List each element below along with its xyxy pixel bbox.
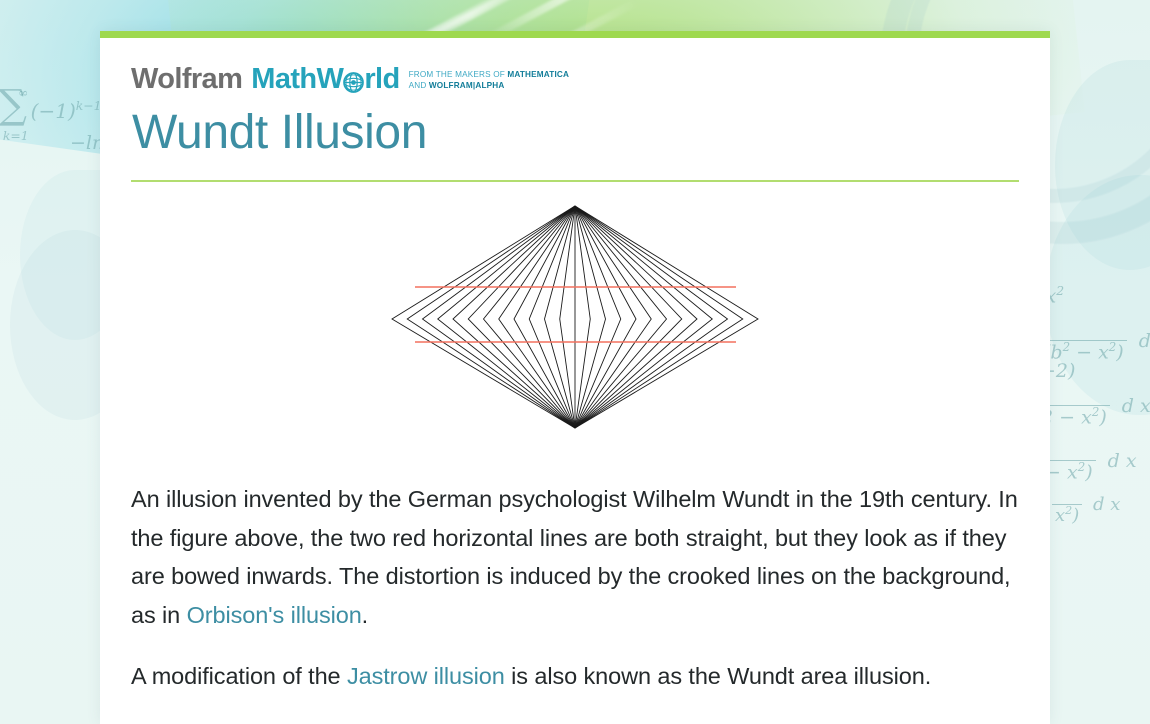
- paragraph-1: An illusion invented by the German psych…: [131, 480, 1019, 635]
- title-divider: [131, 180, 1019, 182]
- logo-w-text: W: [317, 65, 344, 94]
- fan-line: [575, 206, 743, 428]
- paragraph-2: A modification of the Jastrow illusion i…: [131, 657, 1019, 696]
- tagline-line-1: FROM THE MAKERS OF MATHEMATICA: [409, 70, 570, 79]
- wolfram-globe-icon: [343, 70, 364, 91]
- background-formula-right-4: 2 − x2) d x: [1038, 385, 1150, 428]
- fan-line: [499, 206, 575, 428]
- background-formula-right-2: (b2 − x2) d x: [1040, 320, 1150, 363]
- red-straight-line-group: [415, 287, 736, 342]
- fan-line: [407, 206, 575, 428]
- paragraph-2-text-b: is also known as the Wundt area illusion…: [505, 663, 931, 689]
- fan-line: [560, 206, 575, 428]
- paragraph-1-text-b: .: [362, 602, 368, 628]
- content-card: Wolfram MathW rld FROM THE MAKERS OF MAT…: [100, 31, 1050, 724]
- paragraph-2-text-a: A modification of the: [131, 663, 347, 689]
- logo-mathworld-text: MathW rld: [251, 65, 399, 94]
- logo-tagline: FROM THE MAKERS OF MATHEMATICA AND WOLFR…: [409, 70, 570, 94]
- fan-line: [438, 206, 575, 428]
- tagline-line-2: AND WOLFRAM|ALPHA: [409, 81, 505, 90]
- fan-line: [575, 206, 712, 428]
- article-body: An illusion invented by the German psych…: [131, 480, 1019, 696]
- page-title: Wundt Illusion: [132, 108, 1019, 159]
- fan-line-group: [392, 206, 758, 428]
- logo-wolfram-text: Wolfram: [131, 65, 242, 94]
- wundt-illusion-diagram: [375, 194, 775, 442]
- link-jastrow-illusion[interactable]: Jastrow illusion: [347, 663, 505, 689]
- mathworld-logo[interactable]: Wolfram MathW rld FROM THE MAKERS OF MAT…: [131, 64, 1019, 94]
- logo-math-text: Math: [251, 65, 316, 94]
- fan-line: [575, 206, 651, 428]
- background-formula-right-5: − x2) d x: [1042, 440, 1137, 483]
- figure-container: [131, 194, 1019, 442]
- background-formula-right-6: x2) d x: [1052, 485, 1120, 526]
- fan-line: [575, 206, 590, 428]
- logo-orld-text: rld: [364, 65, 399, 94]
- link-orbisons-illusion[interactable]: Orbison's illusion: [187, 602, 362, 628]
